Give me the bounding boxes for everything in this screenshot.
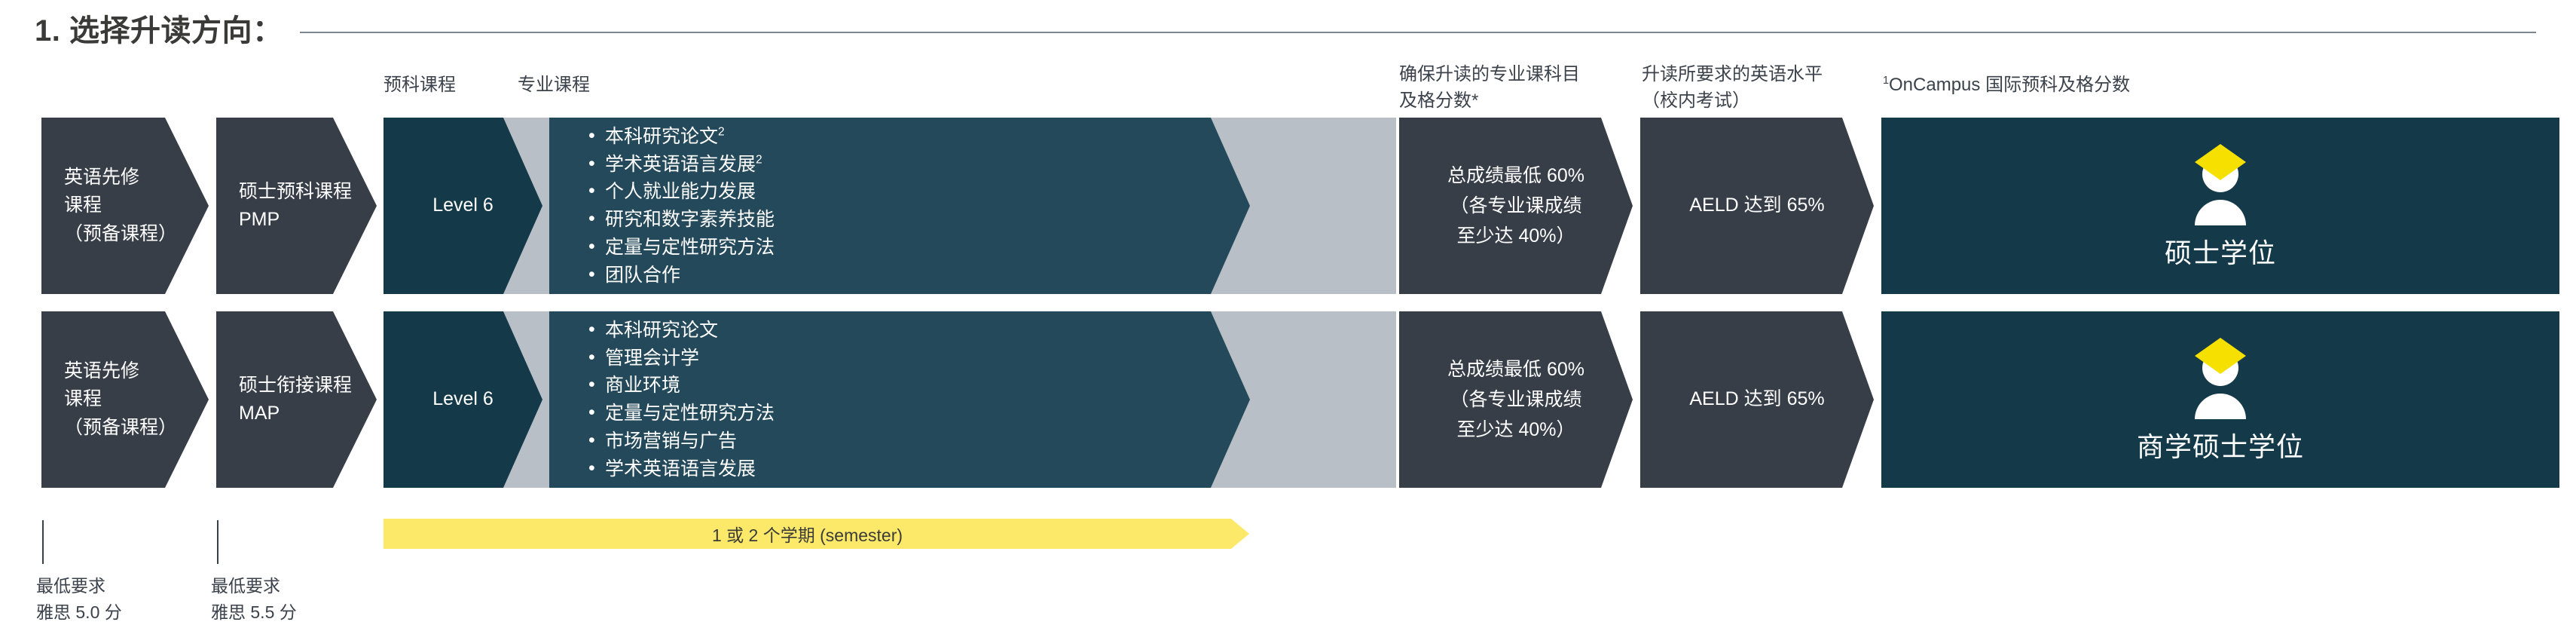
module-sup: 2: [718, 125, 725, 138]
module-sup: 2: [756, 153, 762, 166]
list-item: 团队合作: [588, 262, 775, 290]
duration-label: 1 或 2 个学期 (semester): [712, 521, 903, 547]
row-1-pathway-label: 硕士预科课程 PMP: [216, 178, 352, 234]
row-1-level-label: Level 6: [383, 191, 542, 220]
list-item: 学术英语语言发展2: [588, 151, 775, 179]
row-2-modules-list: 本科研究论文 管理会计学 商业环境 定量与定性研究方法 市场营销与广告 学术英语…: [588, 317, 775, 483]
row-1-english-label: AELD 达到 65%: [1640, 191, 1874, 220]
row-2-english-label: AELD 达到 65%: [1640, 385, 1874, 414]
column-header-foundation: 预科课程: [383, 72, 456, 99]
column-header-oncampus: 1OnCampus 国际预科及格分数: [1883, 72, 2130, 99]
module-text: 研究和数字素养技能: [605, 209, 775, 230]
row-2-modules-block[interactable]: 本科研究论文 管理会计学 商业环境 定量与定性研究方法 市场营销与广告 学术英语…: [549, 311, 1250, 488]
row-1-prep-label: 英语先修 课程 （预备课程）: [41, 164, 177, 249]
row-1-modules-list: 本科研究论文2 学术英语语言发展2 个人就业能力发展 研究和数字素养技能 定量与…: [588, 123, 775, 290]
page-title: 1. 选择升读方向：: [35, 6, 283, 50]
footnote-tick-1: [42, 520, 44, 564]
row-1-pathway-block[interactable]: 硕士预科课程 PMP: [216, 118, 377, 294]
oncampus-superscript: 1: [1883, 75, 1889, 87]
list-item: 定量与定性研究方法: [588, 400, 775, 427]
column-header-grades: 确保升读的专业课科目 及格分数*: [1399, 62, 1580, 115]
module-text: 学术英语语言发展: [605, 154, 756, 175]
title-divider: [300, 32, 2536, 33]
row-2-level-label: Level 6: [383, 385, 542, 414]
list-item: 个人就业能力发展: [588, 178, 775, 206]
oncampus-label: OnCampus 国际预科及格分数: [1889, 75, 2130, 95]
row-2-pathway-block[interactable]: 硕士衔接课程 MAP: [216, 311, 377, 488]
list-item: 市场营销与广告: [588, 427, 775, 455]
module-text: 本科研究论文: [605, 320, 718, 341]
list-item: 本科研究论文2: [588, 123, 775, 151]
module-text: 个人就业能力发展: [605, 181, 756, 202]
module-text: 定量与定性研究方法: [605, 237, 775, 258]
row-2-english-block[interactable]: AELD 达到 65%: [1640, 311, 1874, 488]
graduate-icon: [2182, 335, 2259, 419]
module-text: 商业环境: [605, 375, 680, 396]
row-2-prep-label: 英语先修 课程 （预备课程）: [41, 357, 177, 443]
row-2-degree-label: 商学硕士学位: [2137, 425, 2304, 464]
column-header-english: 升读所要求的英语水平 （校内考试）: [1642, 62, 1823, 115]
row-2-grade-label: 总成绩最低 60% （各专业课成绩 至少达 40%）: [1399, 354, 1633, 445]
list-item: 商业环境: [588, 372, 775, 400]
module-text: 本科研究论文: [605, 126, 718, 147]
list-item: 定量与定性研究方法: [588, 234, 775, 262]
row-1-degree-inner: 硕士学位: [1881, 141, 2559, 271]
row-2-prep-block[interactable]: 英语先修 课程 （预备课程）: [41, 311, 209, 488]
list-item: 学术英语语言发展: [588, 455, 775, 483]
row-2-pathway-label: 硕士衔接课程 MAP: [216, 372, 352, 428]
list-item: 管理会计学: [588, 345, 775, 372]
row-2-grade-block[interactable]: 总成绩最低 60% （各专业课成绩 至少达 40%）: [1399, 311, 1633, 488]
footnote-tick-2: [217, 520, 218, 564]
row-1-prep-block[interactable]: 英语先修 课程 （预备课程）: [41, 118, 209, 294]
footnote-1: 最低要求 雅思 5.0 分: [36, 573, 122, 625]
footnote-2: 最低要求 雅思 5.5 分: [211, 573, 297, 625]
module-text: 团队合作: [605, 265, 680, 286]
module-text: 管理会计学: [605, 348, 699, 369]
row-1-degree-label: 硕士学位: [2165, 231, 2276, 271]
list-item: 研究和数字素养技能: [588, 206, 775, 234]
module-text: 学术英语语言发展: [605, 458, 756, 479]
row-2-degree-inner: 商学硕士学位: [1881, 335, 2559, 464]
list-item: 本科研究论文: [588, 317, 775, 345]
module-text: 定量与定性研究方法: [605, 403, 775, 424]
module-text: 市场营销与广告: [605, 430, 737, 452]
column-header-major: 专业课程: [518, 72, 590, 99]
graduate-icon: [2182, 141, 2259, 225]
row-1-degree-block[interactable]: 硕士学位: [1881, 118, 2559, 294]
row-1-english-block[interactable]: AELD 达到 65%: [1640, 118, 1874, 294]
row-1-grade-label: 总成绩最低 60% （各专业课成绩 至少达 40%）: [1399, 161, 1633, 251]
duration-bar: 1 或 2 个学期 (semester): [383, 519, 1249, 549]
row-1-modules-block[interactable]: 本科研究论文2 学术英语语言发展2 个人就业能力发展 研究和数字素养技能 定量与…: [549, 118, 1250, 294]
row-1-grade-block[interactable]: 总成绩最低 60% （各专业课成绩 至少达 40%）: [1399, 118, 1633, 294]
row-2-degree-block[interactable]: 商学硕士学位: [1881, 311, 2559, 488]
